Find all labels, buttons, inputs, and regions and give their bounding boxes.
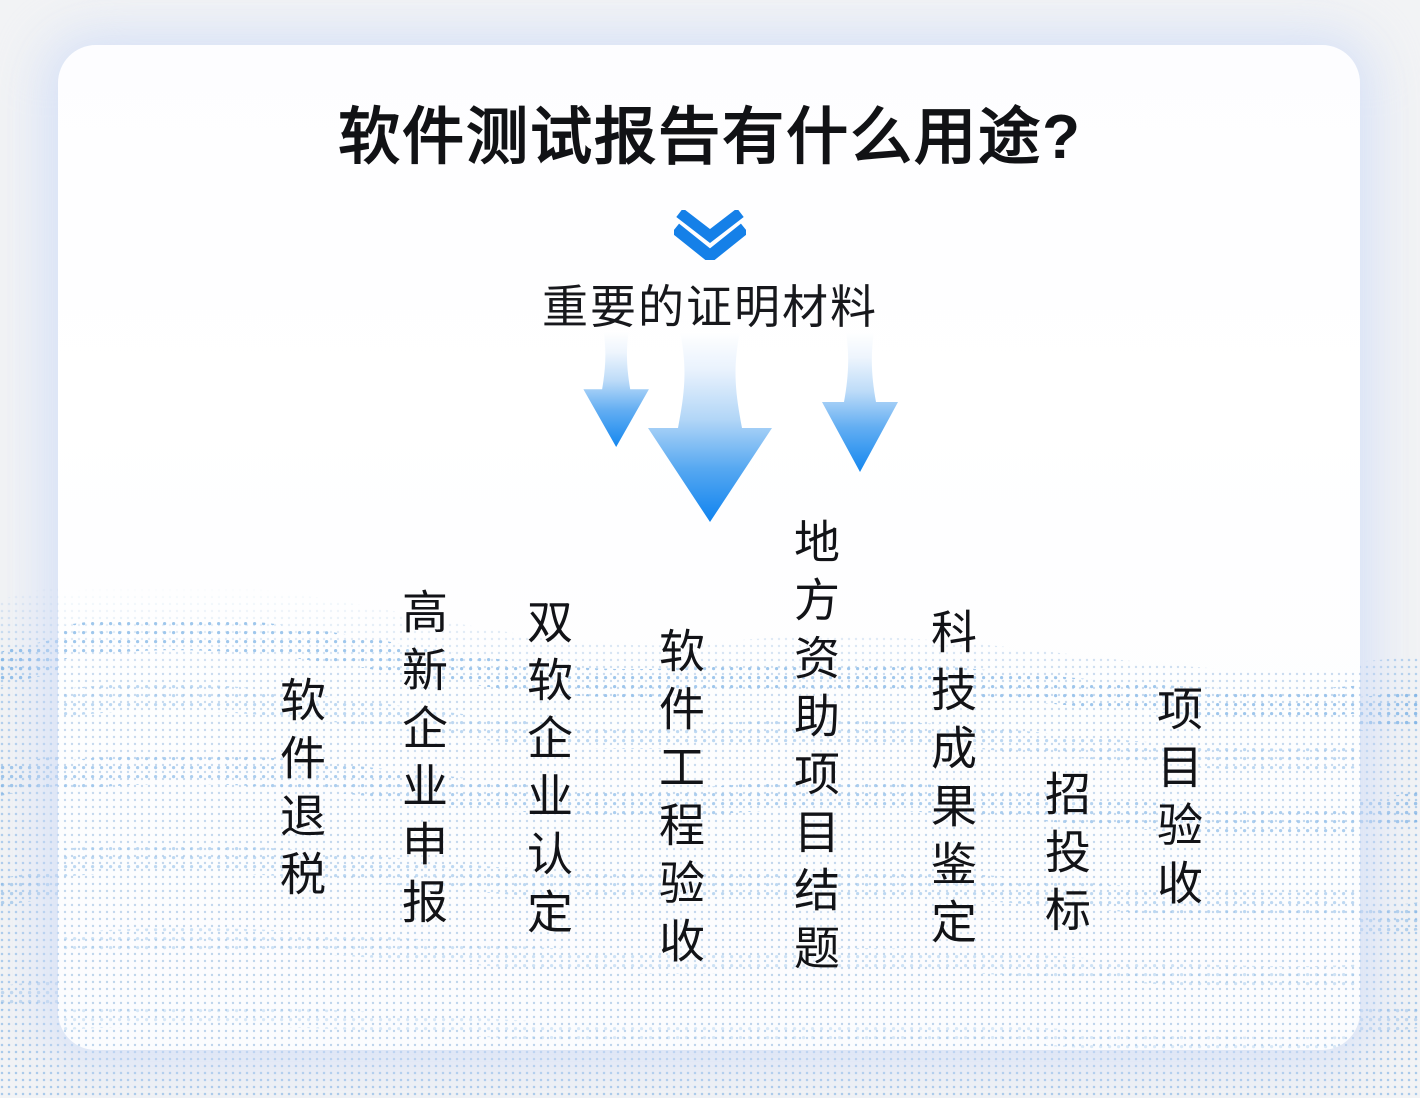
- double-chevron-down-icon: [674, 210, 746, 260]
- use-label-software-tax-refund: 软件退税: [277, 676, 323, 908]
- arrow-right: [822, 332, 898, 472]
- page-subtitle: 重要的证明材料: [0, 281, 1420, 334]
- arrow-center: [648, 332, 772, 522]
- page-title: 软件测试报告有什么用途?: [0, 104, 1420, 172]
- use-label-bidding: 招投标: [1042, 770, 1088, 944]
- use-label-sci-tech-achievement-appraisal: 科技成果鉴定: [928, 608, 974, 956]
- use-label-hi-tech-enterprise: 高新企业申报: [399, 588, 445, 936]
- use-label-project-acceptance: 项目验收: [1154, 685, 1200, 917]
- down-arrow-group: [560, 330, 930, 530]
- use-label-software-engineering-acceptance: 软件工程验收: [656, 627, 702, 975]
- use-label-local-funded-project-closure: 地方资助项目结题: [791, 518, 837, 982]
- use-label-dual-soft-certification: 双软企业认定: [524, 598, 570, 946]
- infographic-canvas: 软件测试报告有什么用途? 重要的证明材料: [0, 0, 1420, 1098]
- arrow-left: [583, 332, 649, 447]
